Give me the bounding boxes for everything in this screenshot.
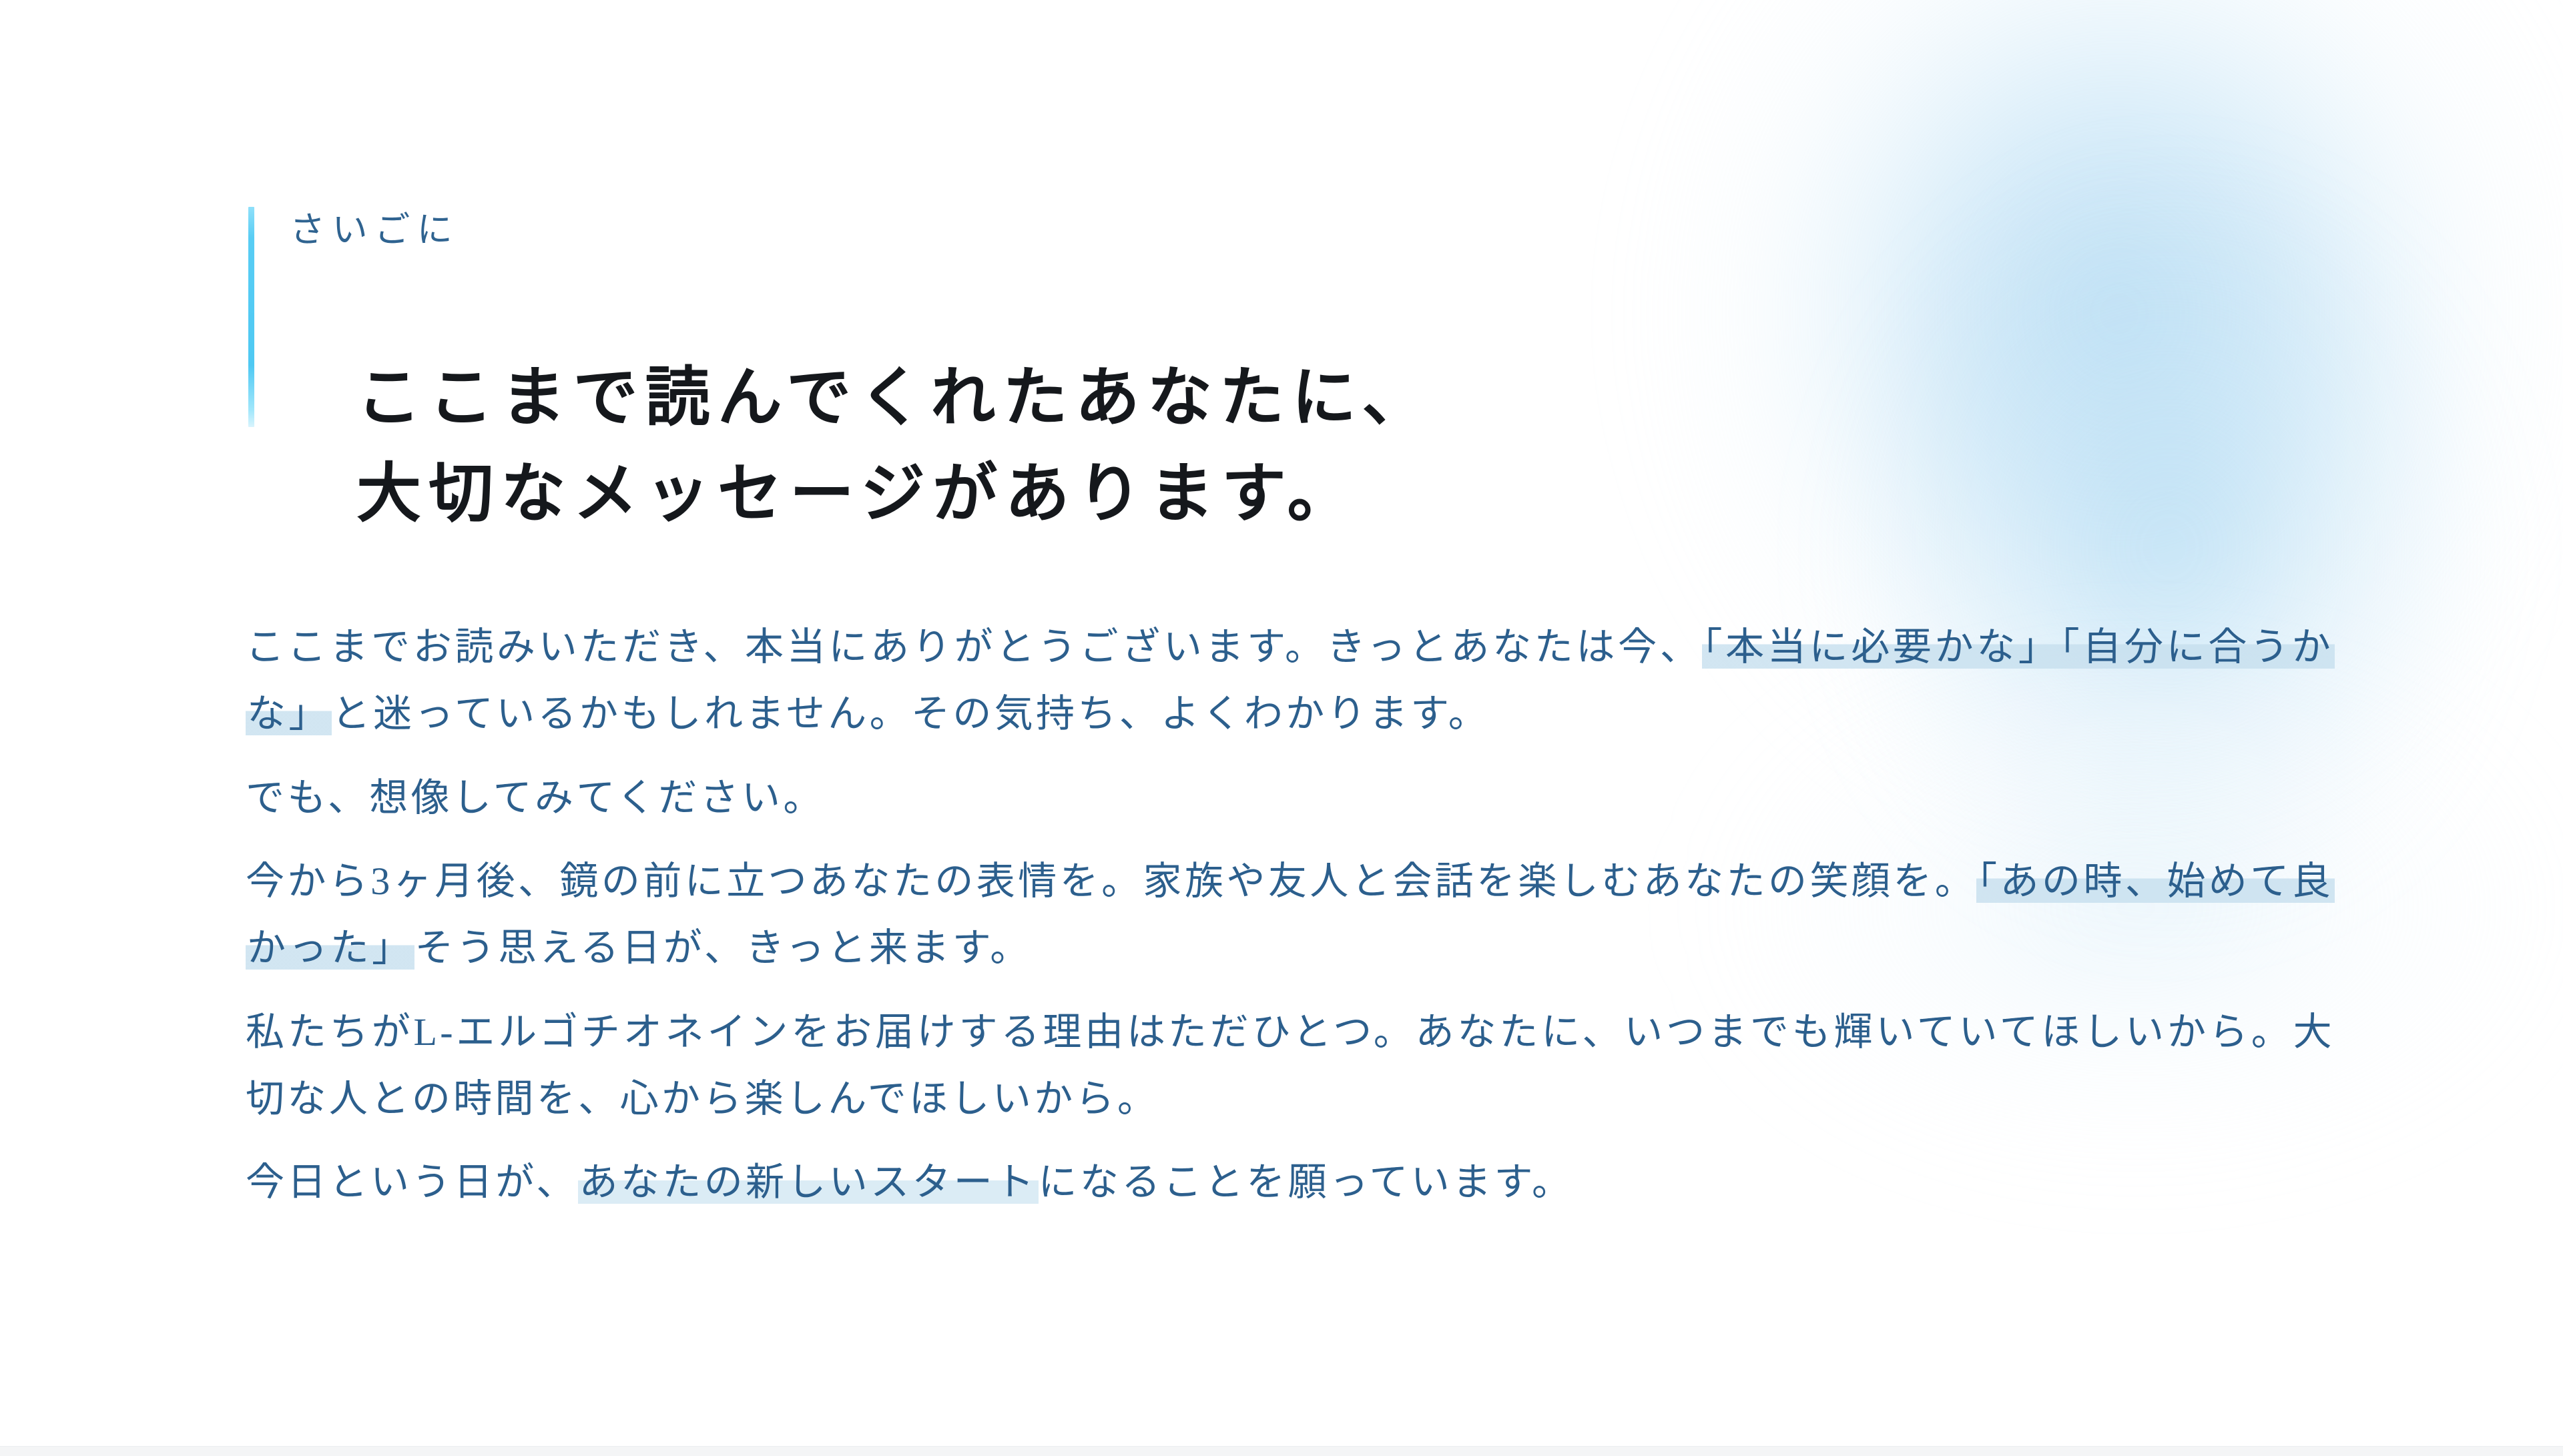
body-paragraph-three-months: 今から3ヶ月後、鏡の前に立つあなたの表情を。家族や友人と会話を楽しむあなたの笑顔… bbox=[246, 848, 2335, 982]
body-paragraph-our-reason: 私たちがL-エルゴチオネインをお届けする理由はただひとつ。あなたに、いつまでも輝… bbox=[246, 999, 2335, 1132]
body-text-run: 今から3ヶ月後、鏡の前に立つあなたの表情を。家族や友人と会話を楽しむあなたの笑顔… bbox=[246, 859, 1976, 903]
section-eyebrow-label: さいごに bbox=[290, 202, 459, 252]
section-content: さいごに ここまで読んでくれたあなたに、 大切なメッセージがあります。 ここまで… bbox=[0, 0, 2563, 1456]
body-text-run: ここまでお読みいただき、本当にありがとうございます。きっとあなたは今、 bbox=[246, 625, 1702, 669]
accent-bar bbox=[248, 207, 254, 427]
body-paragraph-thanks: ここまでお読みいただき、本当にありがとうございます。きっとあなたは今、「本当に必… bbox=[246, 614, 2335, 747]
closing-message-section: さいごに ここまで読んでくれたあなたに、 大切なメッセージがあります。 ここまで… bbox=[0, 0, 2563, 1456]
headline-line-1: ここまで読んでくれたあなたに、 bbox=[356, 350, 1434, 446]
highlighted-phrase: あなたの新しいスタート bbox=[578, 1160, 1039, 1204]
body-text-run: 私たちがL-エルゴチオネインをお届けする理由はただひとつ。あなたに、いつまでも輝… bbox=[246, 1010, 2335, 1120]
body-paragraph-new-start: 今日という日が、あなたの新しいスタートになることを願っています。 bbox=[246, 1149, 2335, 1216]
section-headline: ここまで読んでくれたあなたに、 大切なメッセージがあります。 bbox=[356, 350, 1434, 542]
body-text-run: 今日という日が、 bbox=[246, 1160, 578, 1204]
body-copy: ここまでお読みいただき、本当にありがとうございます。きっとあなたは今、「本当に必… bbox=[246, 614, 2335, 1216]
body-text-run: になることを願っています。 bbox=[1039, 1160, 1574, 1204]
headline-line-2: 大切なメッセージがあります。 bbox=[356, 446, 1434, 542]
body-text-run: でも、想像してみてください。 bbox=[246, 776, 825, 819]
body-text-run: そう思える日が、きっと来ます。 bbox=[414, 926, 1031, 970]
body-text-run: と迷っているかもしれません。その気持ち、よくわかります。 bbox=[332, 692, 1490, 735]
body-paragraph-imagine: でも、想像してみてください。 bbox=[246, 765, 2335, 831]
